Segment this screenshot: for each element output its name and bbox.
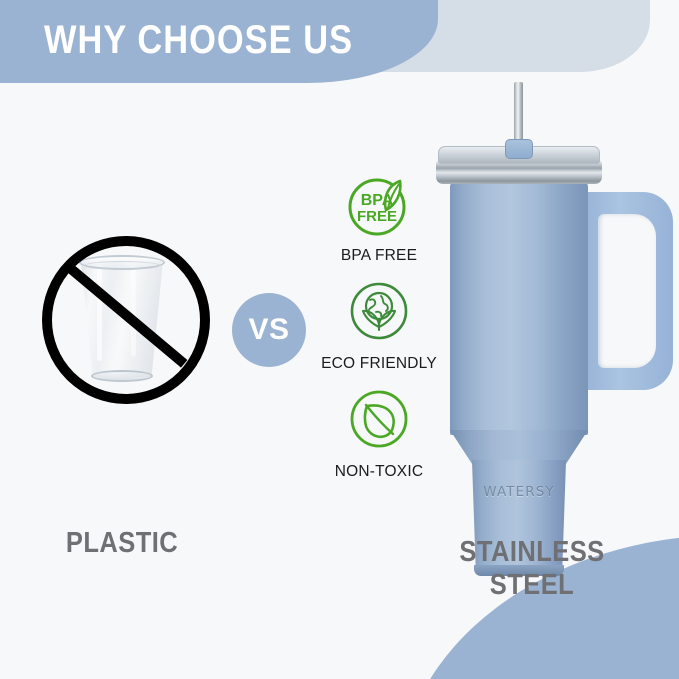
caption-stainless-steel-line1: STAINLESS (435, 536, 629, 569)
eco-friendly-globe-leaf-icon (343, 278, 415, 350)
svg-text:BPA: BPA (361, 192, 394, 209)
page-title: WHY CHOOSE US (44, 13, 353, 67)
infographic-page: WHY CHOOSE US VS BPA FREE (0, 0, 679, 679)
tumbler-body (450, 181, 588, 435)
stainless-steel-tumbler-icon: WATERSY (428, 82, 673, 542)
tumbler-handle-cutout (598, 214, 656, 368)
tumbler-straw-collar (505, 139, 533, 159)
bpa-free-icon: BPA FREE (343, 170, 415, 242)
tumbler-shoulder (450, 430, 588, 464)
versus-label: VS (248, 313, 289, 347)
versus-badge: VS (232, 293, 306, 367)
non-toxic-leaf-icon (343, 386, 415, 458)
caption-stainless-steel-line2: STEEL (435, 569, 629, 602)
svg-text:FREE: FREE (357, 208, 397, 225)
caption-stainless-steel: STAINLESS STEEL (435, 536, 629, 602)
brand-logo: WATERSY (470, 484, 568, 500)
caption-plastic: PLASTIC (34, 527, 210, 560)
plastic-cup-prohibited (42, 236, 200, 394)
